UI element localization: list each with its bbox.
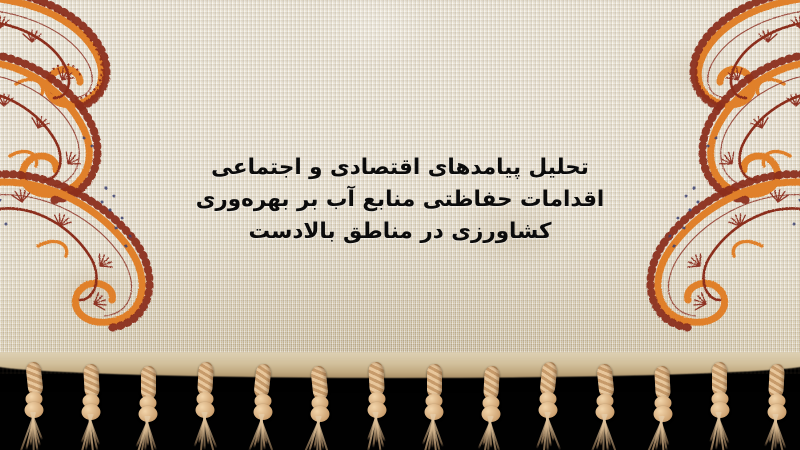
tassel-cord <box>712 362 727 396</box>
tassel-strands <box>250 414 276 450</box>
tassel-strands <box>764 414 790 450</box>
title-line-2: اقدامات حفاظتی منابع آب بر بهره‌وری <box>185 184 615 216</box>
tassel-strands <box>78 414 104 450</box>
tassel <box>595 364 615 398</box>
tassel <box>81 364 101 398</box>
tassel-strands <box>21 412 47 450</box>
tassel <box>24 362 44 396</box>
tassel-strands <box>421 414 447 450</box>
tassel <box>767 364 787 398</box>
tassel-strands <box>707 412 733 450</box>
slide-title: تحلیل پیامدهای اقتصادی و اجتماعی اقدامات… <box>185 152 615 248</box>
tassel-strands <box>307 416 333 450</box>
tassel-strands <box>135 416 161 450</box>
tassel-strands <box>535 412 561 450</box>
tassel-strands <box>478 416 504 450</box>
tassel <box>253 364 273 398</box>
tassel <box>138 366 158 400</box>
title-line-3: کشاورزی در مناطق بالادست <box>185 216 615 248</box>
tassel <box>310 366 330 400</box>
title-line-1: تحلیل پیامدهای اقتصادی و اجتماعی <box>185 152 615 184</box>
fringe-selvedge <box>0 352 800 378</box>
tassel <box>195 362 215 396</box>
tassel-strands <box>592 414 618 450</box>
tassel <box>710 362 730 396</box>
tassel <box>653 366 673 400</box>
textile-cloth: تحلیل پیامدهای اقتصادی و اجتماعی اقدامات… <box>0 0 800 374</box>
tassel-strands <box>650 416 676 450</box>
tassel-strands <box>192 412 218 450</box>
tassel-cord <box>427 364 442 398</box>
tassel <box>367 362 387 396</box>
tassel <box>424 364 444 398</box>
tassel <box>538 362 558 396</box>
tassel-strands <box>364 412 390 450</box>
slide-canvas: تحلیل پیامدهای اقتصادی و اجتماعی اقدامات… <box>0 0 800 450</box>
tassel-cord <box>141 366 156 400</box>
tassel <box>481 366 501 400</box>
tassel-fringe <box>0 352 800 450</box>
